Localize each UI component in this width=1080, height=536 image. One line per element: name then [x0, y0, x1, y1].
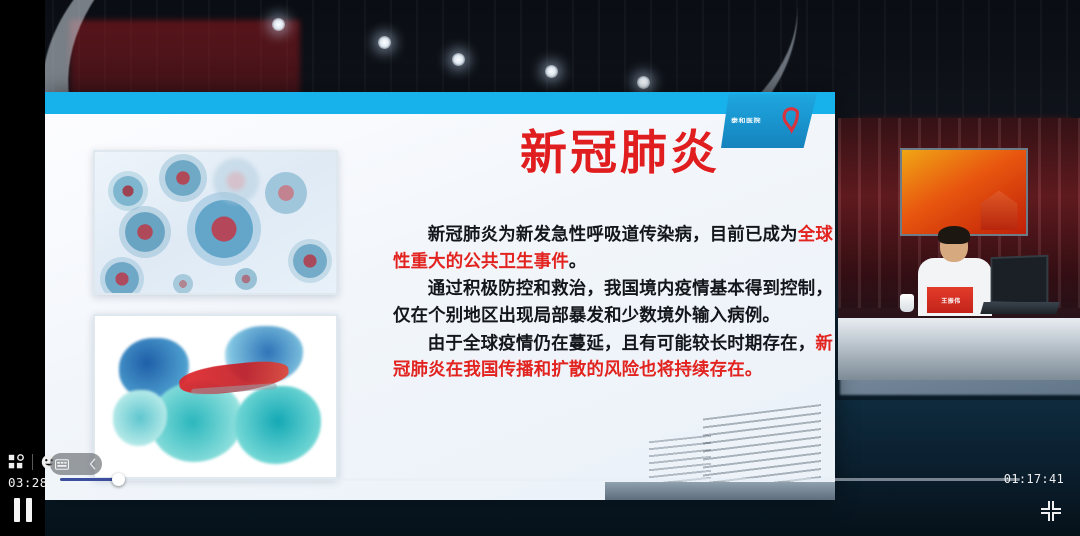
presenter-video-panel[interactable]: 王振伟 [838, 118, 1080, 380]
progress-knob[interactable] [112, 473, 125, 486]
progress-bar[interactable] [60, 478, 1020, 482]
slide-top-banner [45, 92, 835, 114]
paragraph-run: 通过积极防控和救治，我国境内疫情基本得到控制，仅在个别地区出现局部暴发和少数境外… [393, 279, 833, 326]
china-watercolor-map-photo [93, 314, 338, 479]
slide-paragraph: 通过积极防控和救治，我国境内疫情基本得到控制，仅在个别地区出现局部暴发和少数境外… [393, 276, 833, 329]
paragraph-run: 由于全球疫情仍在蔓延，且有可能较长时期存在， [428, 334, 816, 354]
fullscreen-exit-icon [1040, 500, 1062, 522]
chevron-left-icon[interactable] [89, 458, 97, 470]
slide-paragraph: 由于全球疫情仍在蔓延，且有可能较长时期存在，新冠肺炎在我国传播和扩散的风险也将持… [393, 331, 833, 384]
video-stage[interactable]: 泰和医院 [0, 0, 1080, 536]
spotlight-icon [272, 18, 285, 31]
caption-keyboard-icon [55, 459, 69, 470]
progress-track[interactable] [60, 478, 1020, 481]
slide-paragraph: 新冠肺炎为新发急性呼吸道传染病，目前已成为全球性重大的公共卫生事件。 [393, 222, 833, 275]
spotlight-icon [452, 53, 465, 66]
spotlight-icon [378, 36, 391, 49]
grid-apps-icon[interactable] [6, 452, 26, 472]
presenter-nameplate: 王振伟 [926, 286, 974, 314]
presenter-nameplate-label: 王振伟 [927, 296, 975, 305]
spotlight-icon [545, 65, 558, 78]
presentation-slide: 泰和医院 [45, 92, 835, 500]
paragraph-run: 新冠肺炎为新发急性呼吸道传染病，目前已成为 [428, 225, 798, 245]
laptop-screen [991, 255, 1049, 306]
laptop-base [980, 302, 1059, 314]
studio-led-screen [900, 148, 1028, 236]
video-player-window: 泰和医院 [0, 0, 1080, 536]
hospital-building-photo [605, 390, 835, 500]
hospital-logo-label: 泰和医院 [731, 117, 761, 126]
pause-icon [14, 498, 20, 522]
studio-desk [838, 318, 1080, 380]
coronavirus-particles-photo [93, 150, 338, 295]
pause-button[interactable] [14, 497, 40, 523]
caption-toggle-pill[interactable] [50, 453, 102, 475]
slide-title: 新冠肺炎 [435, 130, 805, 177]
paragraph-run: 。 [745, 360, 763, 380]
toolbar-divider [32, 454, 33, 470]
spotlight-icon [637, 76, 650, 89]
paragraph-run: 。 [569, 252, 587, 272]
progress-fill [60, 478, 118, 481]
elapsed-time: 03:28 [8, 475, 48, 490]
fullscreen-exit-button[interactable] [1040, 500, 1062, 522]
slide-body-text: 新冠肺炎为新发急性呼吸道传染病，目前已成为全球性重大的公共卫生事件。 通过积极防… [393, 222, 833, 385]
water-cup [900, 294, 914, 312]
pause-icon [26, 498, 32, 522]
total-duration: 01:17:41 [1004, 472, 1064, 486]
presenter-hair [938, 226, 970, 244]
